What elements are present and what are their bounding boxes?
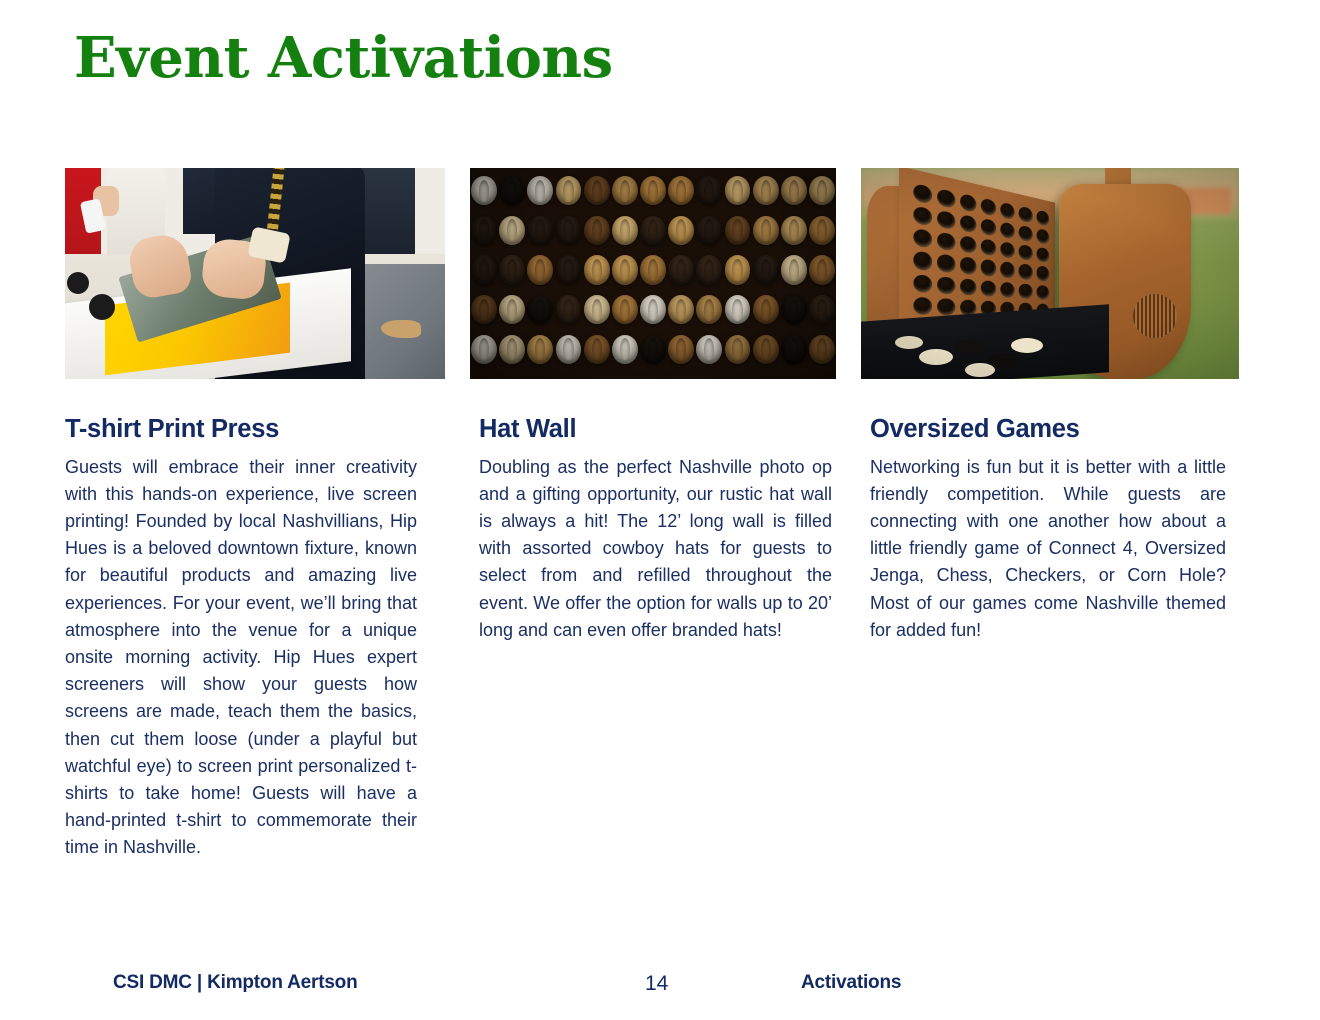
hat-wall-photo (470, 168, 836, 379)
photo-cowboy-hat (470, 290, 498, 330)
card-heading-oversized-games: Oversized Games (870, 414, 1239, 445)
photo-cowboy-hat (526, 290, 554, 330)
photo-hat-crown (507, 299, 517, 321)
photo-hat-crown (732, 338, 742, 360)
footer-client-label: CSI DMC | Kimpton Aertson (113, 972, 358, 994)
photo-hat-crown (563, 219, 573, 241)
photo-hat-crown (620, 299, 630, 321)
photo-hat-crown (761, 180, 771, 202)
photo-cowboy-hat (470, 250, 498, 290)
photo-hat-crown (676, 338, 686, 360)
photo-cowboy-hat (752, 171, 780, 211)
photo-hat-crown (732, 299, 742, 321)
photo-cowboy-hat (695, 250, 723, 290)
tshirt-print-press-photo (65, 168, 445, 379)
photo-cowboy-hat (554, 211, 582, 251)
footer-page-number: 14 (645, 972, 668, 996)
photo-cowboy-hat (780, 290, 808, 330)
photo-cowboy-hat (611, 329, 639, 369)
photo-cowboy-hat (752, 250, 780, 290)
oversized-games-photo (861, 168, 1239, 379)
slide-canvas: Event Activations (0, 0, 1320, 1020)
photo-hat-crown (479, 180, 489, 202)
photo-cowboy-hat (526, 171, 554, 211)
photo-hat-grid (470, 168, 836, 379)
footer-section-label: Activations (801, 972, 901, 994)
photo-hat-crown (620, 338, 630, 360)
photo-hat-crown (620, 259, 630, 281)
photo-cowboy-hat (526, 329, 554, 369)
photo-cowboy-hat (583, 329, 611, 369)
photo-hat-crown (817, 259, 827, 281)
photo-cowboy-hat (695, 329, 723, 369)
photo-hat-crown (817, 338, 827, 360)
photo-hat-crown (817, 219, 827, 241)
photo-hat-crown (592, 180, 602, 202)
photo-hat-crown (676, 180, 686, 202)
photo-hat-crown (789, 259, 799, 281)
photo-cowboy-hat (808, 329, 836, 369)
photo-hat-crown (676, 259, 686, 281)
photo-hat-crown (479, 219, 489, 241)
photo-cowboy-hat (752, 290, 780, 330)
photo-hat-crown (592, 299, 602, 321)
photo-cowboy-hat (470, 211, 498, 251)
photo-hat-crown (761, 259, 771, 281)
photo-hat-crown (817, 299, 827, 321)
photo-cowboy-hat (695, 171, 723, 211)
photo-cowboy-hat (639, 329, 667, 369)
photo-hat-crown (620, 219, 630, 241)
photo-hat-crown (592, 219, 602, 241)
photo-hat-crown (507, 180, 517, 202)
photo-hat-crown (563, 299, 573, 321)
activation-card-hat-wall: Hat Wall Doubling as the perfect Nashvil… (470, 168, 836, 862)
photo-hat-crown (704, 180, 714, 202)
photo-hat-crown (648, 219, 658, 241)
photo-cowboy-hat (808, 171, 836, 211)
photo-cowboy-hat (583, 211, 611, 251)
photo-hat-crown (648, 299, 658, 321)
photo-hat-crown (479, 299, 489, 321)
photo-hat-crown (732, 180, 742, 202)
photo-cowboy-hat (554, 171, 582, 211)
photo-cowboy-hat (611, 250, 639, 290)
page-title: Event Activations (74, 26, 613, 90)
photo-cowboy-hat (498, 171, 526, 211)
photo-hat-crown (592, 259, 602, 281)
photo-cowboy-hat (695, 290, 723, 330)
photo-hat-crown (563, 338, 573, 360)
photo-cowboy-hat (639, 290, 667, 330)
photo-cowboy-hat (470, 171, 498, 211)
photo-cowboy-hat (808, 290, 836, 330)
photo-cowboy-hat (723, 329, 751, 369)
slide-footer: CSI DMC | Kimpton Aertson 14 Activations (0, 972, 1320, 1002)
photo-cowboy-hat (695, 211, 723, 251)
photo-hat-crown (479, 338, 489, 360)
photo-hat-crown (592, 338, 602, 360)
photo-cowboy-hat (723, 171, 751, 211)
photo-cowboy-hat (611, 211, 639, 251)
card-body-oversized-games: Networking is fun but it is better with … (870, 454, 1226, 644)
activation-card-oversized-games: Oversized Games Networking is fun but it… (861, 168, 1239, 862)
photo-cowboy-hat (498, 211, 526, 251)
photo-cowboy-hat (780, 329, 808, 369)
photo-cowboy-hat (723, 250, 751, 290)
activation-columns: T-shirt Print Press Guests will embrace … (65, 168, 1255, 862)
photo-hat-crown (676, 299, 686, 321)
photo-vignette (861, 168, 1239, 379)
photo-cowboy-hat (667, 171, 695, 211)
photo-hat-crown (563, 180, 573, 202)
photo-cowboy-hat (583, 171, 611, 211)
photo-cowboy-hat (639, 171, 667, 211)
photo-cowboy-hat (723, 211, 751, 251)
photo-hat-crown (479, 259, 489, 281)
photo-hat-crown (732, 259, 742, 281)
photo-hat-crown (507, 338, 517, 360)
card-heading-tshirt-print-press: T-shirt Print Press (65, 414, 445, 445)
photo-shoe (381, 320, 421, 338)
photo-cowboy-hat (554, 250, 582, 290)
photo-hat-crown (648, 180, 658, 202)
photo-hat-crown (761, 338, 771, 360)
photo-cowboy-hat (498, 250, 526, 290)
photo-hat-crown (789, 180, 799, 202)
photo-cowboy-hat (611, 171, 639, 211)
photo-cowboy-hat (667, 290, 695, 330)
card-body-hat-wall: Doubling as the perfect Nashville photo … (479, 454, 832, 644)
card-heading-hat-wall: Hat Wall (479, 414, 836, 445)
photo-cowboy-hat (667, 250, 695, 290)
photo-cowboy-hat (723, 290, 751, 330)
photo-cowboy-hat (611, 290, 639, 330)
photo-cowboy-hat (526, 211, 554, 251)
photo-cowboy-hat (808, 211, 836, 251)
activation-card-tshirt-print-press: T-shirt Print Press Guests will embrace … (65, 168, 445, 862)
photo-cowboy-hat (780, 211, 808, 251)
photo-cowboy-hat (639, 211, 667, 251)
photo-cowboy-hat (554, 329, 582, 369)
photo-cowboy-hat (752, 211, 780, 251)
photo-hat-crown (620, 180, 630, 202)
photo-press-knob-2 (89, 294, 115, 320)
photo-hat-crown (648, 338, 658, 360)
photo-cowboy-hat (639, 250, 667, 290)
photo-cowboy-hat (554, 290, 582, 330)
photo-cowboy-hat (667, 329, 695, 369)
photo-hat-crown (648, 259, 658, 281)
photo-cowboy-hat (498, 290, 526, 330)
photo-cowboy-hat (526, 250, 554, 290)
photo-hat-crown (789, 219, 799, 241)
photo-hat-crown (761, 219, 771, 241)
photo-cowboy-hat (583, 290, 611, 330)
photo-hat-crown (704, 259, 714, 281)
photo-hat-crown (761, 299, 771, 321)
photo-press-knob-1 (67, 272, 89, 294)
photo-cowboy-hat (808, 250, 836, 290)
photo-cowboy-hat (498, 329, 526, 369)
photo-cowboy-hat (470, 329, 498, 369)
photo-hat-crown (507, 259, 517, 281)
photo-hat-crown (732, 219, 742, 241)
photo-hat-crown (817, 180, 827, 202)
photo-cowboy-hat (780, 171, 808, 211)
photo-hat-crown (563, 259, 573, 281)
photo-hat-crown (789, 299, 799, 321)
photo-cowboy-hat (752, 329, 780, 369)
photo-hat-crown (789, 338, 799, 360)
card-body-tshirt-print-press: Guests will embrace their inner creativi… (65, 454, 417, 862)
photo-cowboy-hat (667, 211, 695, 251)
photo-cowboy-hat (583, 250, 611, 290)
photo-cowboy-hat (780, 250, 808, 290)
